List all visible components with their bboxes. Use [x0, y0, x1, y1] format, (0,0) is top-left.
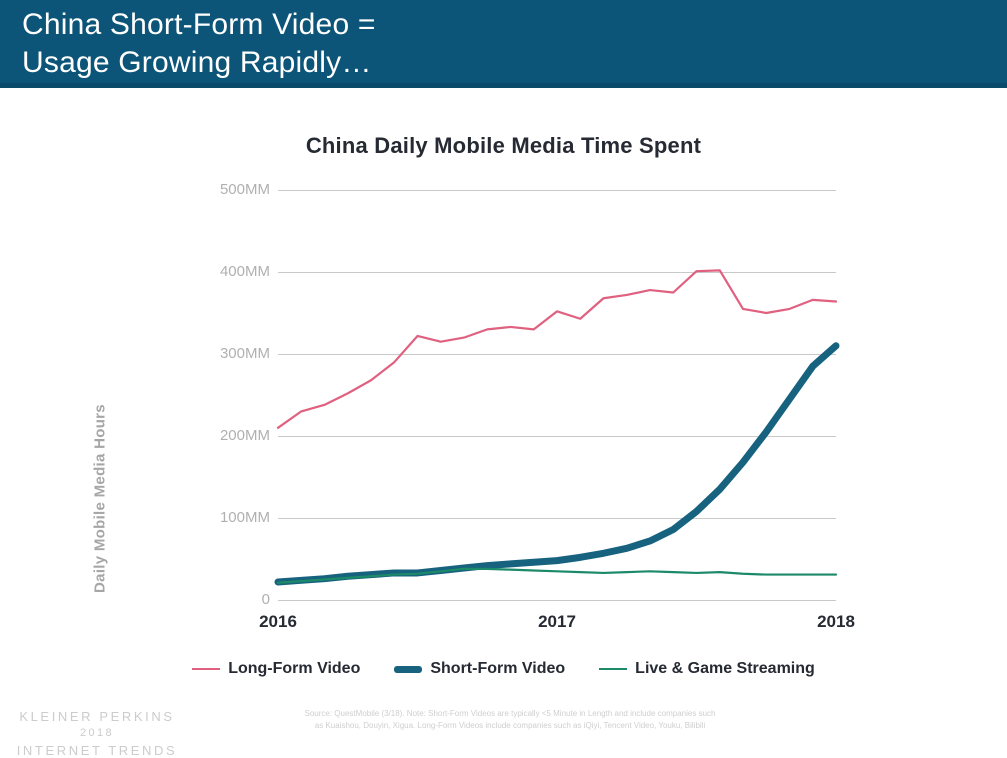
legend-color-swatch [599, 668, 627, 670]
legend-label: Short-Form Video [430, 660, 565, 678]
legend-label: Live & Game Streaming [635, 660, 815, 678]
chart-series-lines [0, 190, 1007, 610]
slide-header: China Short-Form Video = Usage Growing R… [0, 0, 1007, 88]
kleiner-perkins-line1: KLEINER PERKINS [8, 708, 186, 725]
kleiner-perkins-year: 2018 [8, 725, 186, 742]
x-tick-label: 2018 [817, 612, 855, 632]
kleiner-perkins-line2: INTERNET TRENDS [8, 742, 186, 758]
legend-color-swatch [394, 666, 422, 673]
x-axis-ticks: 201620172018 [0, 612, 1007, 636]
chart-legend: Long-Form VideoShort-Form VideoLive & Ga… [0, 660, 1007, 678]
series-line [278, 270, 836, 427]
x-tick-label: 2017 [538, 612, 576, 632]
series-line [278, 569, 836, 583]
kleiner-perkins-logo: KLEINER PERKINS 2018 INTERNET TRENDS [8, 708, 186, 758]
legend-item[interactable]: Live & Game Streaming [599, 660, 815, 678]
chart-plot-area: Daily Mobile Media Hours 0100MM200MM300M… [0, 190, 1007, 610]
slide-canvas: China Short-Form Video = Usage Growing R… [0, 0, 1007, 758]
series-line [278, 346, 836, 582]
legend-label: Long-Form Video [228, 660, 360, 678]
slide-title: China Short-Form Video = Usage Growing R… [22, 6, 376, 82]
legend-item[interactable]: Long-Form Video [192, 660, 360, 678]
slide-footer: KLEINER PERKINS 2018 INTERNET TRENDS Sou… [0, 700, 1007, 758]
source-note: Source: QuestMobile (3/18). Note: Short-… [300, 708, 720, 731]
legend-item[interactable]: Short-Form Video [394, 660, 565, 678]
chart-title: China Daily Mobile Media Time Spent [0, 133, 1007, 159]
x-tick-label: 2016 [259, 612, 297, 632]
legend-color-swatch [192, 668, 220, 670]
